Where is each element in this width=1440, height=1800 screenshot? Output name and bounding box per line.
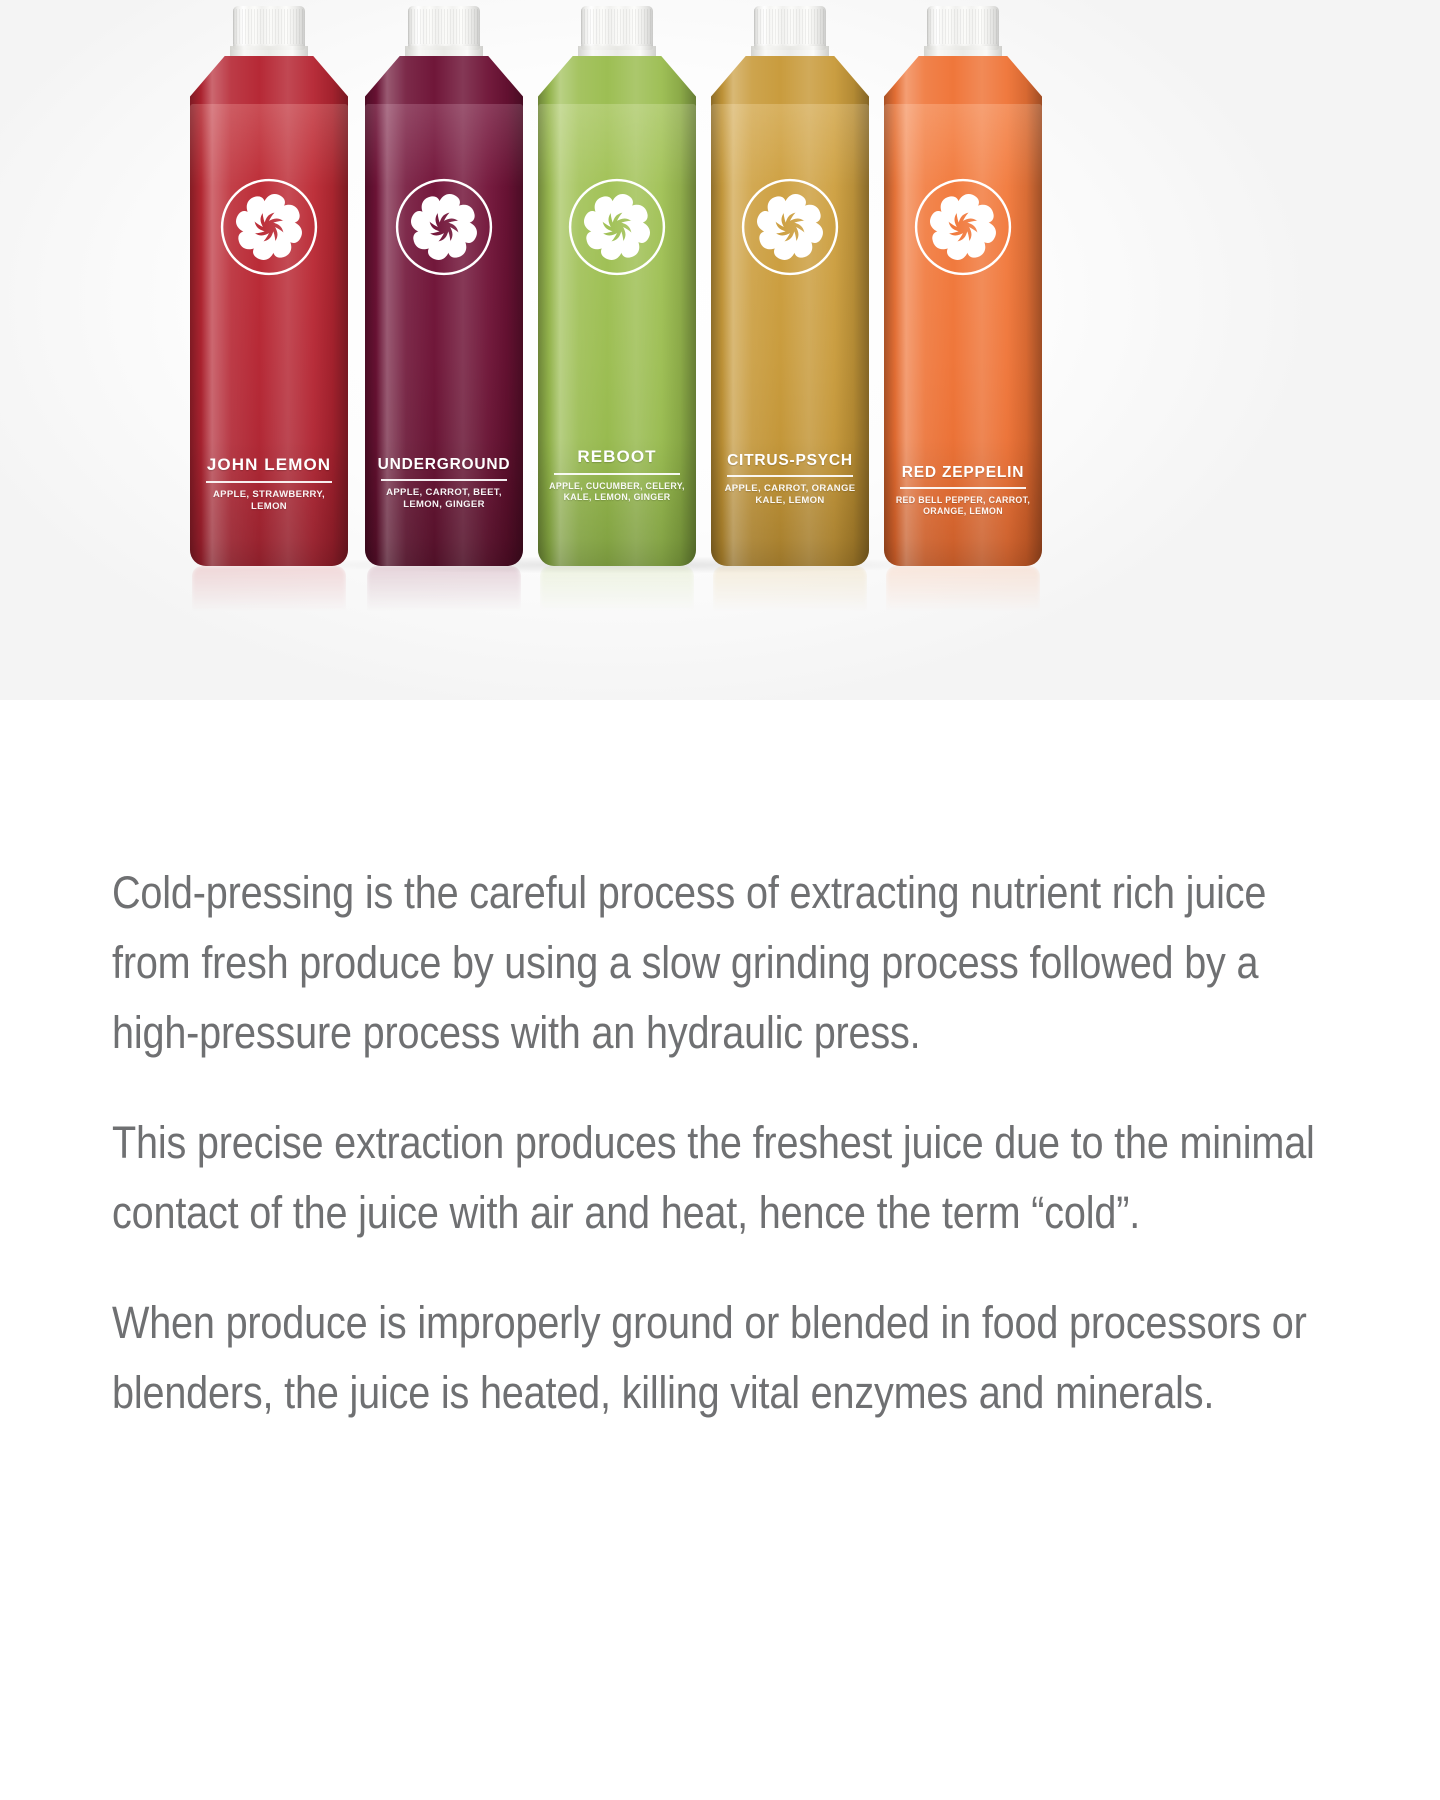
- label-divider: [206, 481, 332, 483]
- paragraph: Cold-pressing is the careful process of …: [112, 858, 1326, 1068]
- bottle-cap-icon: [233, 6, 305, 50]
- label-divider: [381, 479, 507, 481]
- bottle-body: JOHN LEMON APPLE, STRAWBERRY, LEMON: [190, 104, 348, 566]
- bottle-body: CITRUS-PSYCH APPLE, CARROT, ORANGE KALE,…: [711, 104, 869, 566]
- bottle-john-lemon[interactable]: JOHN LEMON APPLE, STRAWBERRY, LEMON: [190, 4, 348, 594]
- bottle-shoulder: [711, 56, 869, 108]
- article-body: Cold-pressing is the careful process of …: [112, 858, 1327, 1428]
- bottle-label: RED ZEPPELIN RED BELL PEPPER, CARROT, OR…: [888, 464, 1038, 517]
- bottle-shoulder: [884, 56, 1042, 108]
- bottle-name: REBOOT: [542, 448, 692, 467]
- bottle-cap-icon: [927, 6, 999, 50]
- hero-product-image: JOHN LEMON APPLE, STRAWBERRY, LEMON: [0, 0, 1440, 700]
- bottle-shoulder: [538, 56, 696, 108]
- pinwheel-flower-logo-icon: [566, 176, 668, 278]
- bottle-citrus-psych[interactable]: CITRUS-PSYCH APPLE, CARROT, ORANGE KALE,…: [711, 4, 869, 594]
- bottle-ingredients: APPLE, STRAWBERRY, LEMON: [194, 489, 344, 513]
- bottle-name: RED ZEPPELIN: [888, 464, 1038, 481]
- bottle-name: CITRUS-PSYCH: [715, 452, 865, 469]
- pinwheel-flower-logo-icon: [393, 176, 495, 278]
- page-root: JOHN LEMON APPLE, STRAWBERRY, LEMON: [0, 0, 1440, 1800]
- bottle-reflection: [886, 566, 1040, 612]
- bottle-red-zeppelin[interactable]: RED ZEPPELIN RED BELL PEPPER, CARROT, OR…: [884, 4, 1042, 594]
- label-divider: [727, 475, 853, 477]
- bottle-label: CITRUS-PSYCH APPLE, CARROT, ORANGE KALE,…: [715, 452, 865, 507]
- bottle-ingredients: APPLE, CUCUMBER, CELERY, KALE, LEMON, GI…: [542, 481, 692, 503]
- bottle-body: REBOOT APPLE, CUCUMBER, CELERY, KALE, LE…: [538, 104, 696, 566]
- bottle-shoulder: [190, 56, 348, 108]
- bottle-label: UNDERGROUND APPLE, CARROT, BEET, LEMON, …: [369, 456, 519, 511]
- pinwheel-flower-logo-icon: [912, 176, 1014, 278]
- paragraph: This precise extraction produces the fre…: [112, 1108, 1326, 1248]
- bottle-reflection: [192, 566, 346, 612]
- bottle-underground[interactable]: UNDERGROUND APPLE, CARROT, BEET, LEMON, …: [365, 4, 523, 594]
- paragraph: When produce is improperly ground or ble…: [112, 1288, 1326, 1428]
- bottle-reflection: [540, 566, 694, 612]
- bottle-reflection: [713, 566, 867, 612]
- bottle-name: JOHN LEMON: [194, 456, 344, 475]
- bottle-body: UNDERGROUND APPLE, CARROT, BEET, LEMON, …: [365, 104, 523, 566]
- label-divider: [554, 473, 680, 475]
- bottle-ingredients: APPLE, CARROT, ORANGE KALE, LEMON: [715, 483, 865, 507]
- bottle-lineup: JOHN LEMON APPLE, STRAWBERRY, LEMON: [190, 0, 1060, 660]
- bottle-reflection: [367, 566, 521, 612]
- bottle-reboot[interactable]: REBOOT APPLE, CUCUMBER, CELERY, KALE, LE…: [538, 4, 696, 594]
- bottle-ingredients: RED BELL PEPPER, CARROT, ORANGE, LEMON: [888, 495, 1038, 517]
- pinwheel-flower-logo-icon: [218, 176, 320, 278]
- label-divider: [900, 487, 1026, 489]
- bottle-shoulder: [365, 56, 523, 108]
- bottle-cap-icon: [754, 6, 826, 50]
- bottle-cap-icon: [408, 6, 480, 50]
- bottle-name: UNDERGROUND: [369, 456, 519, 473]
- pinwheel-flower-logo-icon: [739, 176, 841, 278]
- bottle-body: RED ZEPPELIN RED BELL PEPPER, CARROT, OR…: [884, 104, 1042, 566]
- bottle-cap-icon: [581, 6, 653, 50]
- bottle-label: JOHN LEMON APPLE, STRAWBERRY, LEMON: [194, 456, 344, 512]
- bottle-label: REBOOT APPLE, CUCUMBER, CELERY, KALE, LE…: [542, 448, 692, 503]
- bottle-ingredients: APPLE, CARROT, BEET, LEMON, GINGER: [369, 487, 519, 511]
